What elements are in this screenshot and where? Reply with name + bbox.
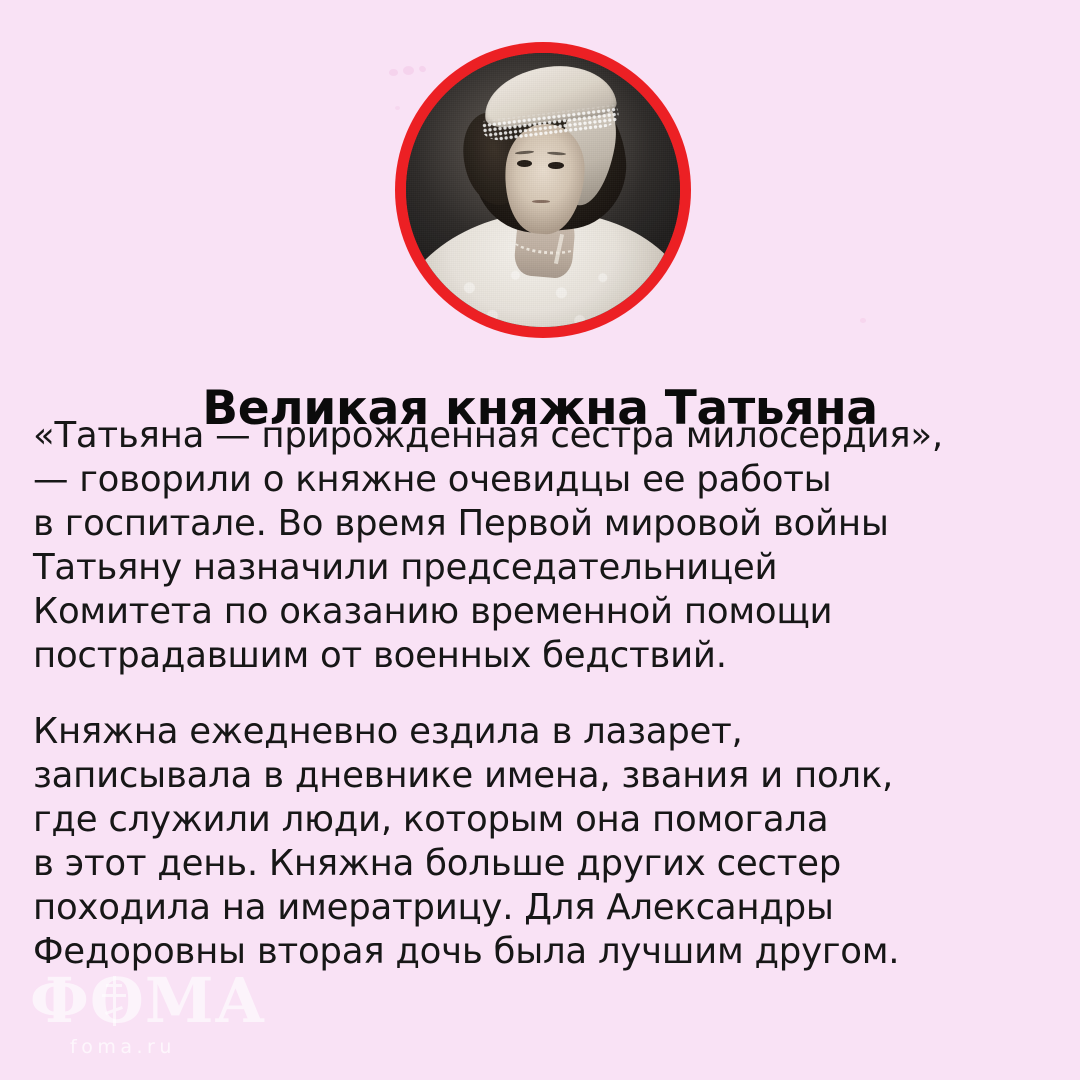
logo-wordmark: ФОМА: [30, 970, 270, 1032]
portrait-photo: [406, 53, 680, 327]
speckle-artifact: [860, 318, 866, 323]
orthodox-cross-icon: [100, 976, 128, 1026]
social-card: Великая княжна Татьяна «Татьяна — прирож…: [0, 0, 1080, 1080]
speckle-artifact: [389, 69, 398, 76]
logo-url: foma.ru: [70, 1036, 270, 1058]
photo-grain-overlay: [406, 53, 680, 327]
brand-logo[interactable]: ФОМА foma.ru: [30, 970, 270, 1058]
article-body: «Татьяна — прирожденная сестра милосерди…: [33, 414, 1013, 974]
paragraph-1: «Татьяна — прирожденная сестра милосерди…: [33, 414, 1013, 678]
paragraph-2: Княжна ежедневно ездила в лазарет, запис…: [33, 710, 1013, 974]
speckle-artifact: [395, 106, 400, 110]
portrait-frame: [395, 42, 691, 338]
